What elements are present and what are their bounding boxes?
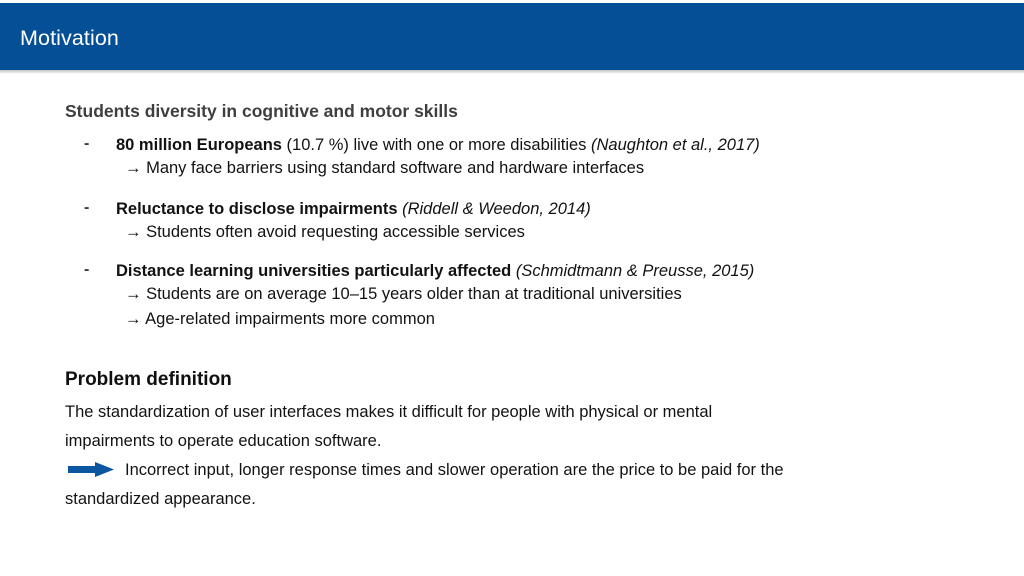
right-block-arrow-icon [68, 458, 114, 473]
bullet-group-1: - 80 million Europeans (10.7 %) live wit… [65, 135, 965, 181]
bullet-sub-line: → Students often avoid requesting access… [65, 220, 965, 245]
bullet-bold-text: Reluctance to disclose impairments [116, 200, 398, 218]
citation-text: (Schmidtmann & Preusse, 2015) [516, 262, 754, 280]
problem-line-1: The standardization of user interfaces m… [65, 403, 712, 421]
bullet-regular-text: (10.7 %) live with one or more disabilit… [282, 136, 591, 154]
bullet-group-3: - Distance learning universities particu… [65, 261, 965, 332]
citation-text: (Naughton et al., 2017) [591, 136, 760, 154]
bullet-dash-icon: - [84, 259, 89, 280]
page-title: Motivation [20, 25, 119, 51]
bullet-line: - Reluctance to disclose impairments (Ri… [65, 199, 965, 220]
bullet-line: - Distance learning universities particu… [65, 261, 965, 282]
bullet-sub-line: → Age-related impairments more common [65, 307, 965, 332]
bullet-line: - 80 million Europeans (10.7 %) live wit… [65, 135, 965, 156]
bullet-dash-icon: - [84, 197, 89, 218]
bullet-sub-line: → Many face barriers using standard soft… [65, 156, 965, 181]
bullet-text: Distance learning universities particula… [65, 262, 754, 280]
bullet-bold-text: 80 million Europeans [116, 136, 282, 154]
citation-text: (Riddell & Weedon, 2014) [402, 200, 591, 218]
bullet-text: 80 million Europeans (10.7 %) live with … [65, 136, 760, 154]
problem-line-2: impairments to operate education softwar… [65, 432, 381, 450]
slide-header-bar: Motivation [0, 3, 1024, 70]
bullet-group-2: - Reluctance to disclose impairments (Ri… [65, 199, 965, 245]
problem-paragraph: The standardization of user interfaces m… [65, 398, 945, 514]
section-heading-diversity: Students diversity in cognitive and moto… [65, 101, 458, 122]
section-heading-problem: Problem definition [65, 369, 232, 391]
problem-line-3: Incorrect input, longer response times a… [125, 461, 784, 479]
problem-line-4: standardized appearance. [65, 490, 256, 508]
bullet-text: Reluctance to disclose impairments (Ridd… [65, 200, 591, 218]
problem-arrow-line: Incorrect input, longer response times a… [65, 456, 945, 485]
slide-body: Students diversity in cognitive and moto… [0, 71, 1024, 576]
bullet-bold-text: Distance learning universities particula… [116, 262, 511, 280]
bullet-sub-line: → Students are on average 10–15 years ol… [65, 282, 965, 307]
bullet-dash-icon: - [84, 133, 89, 154]
